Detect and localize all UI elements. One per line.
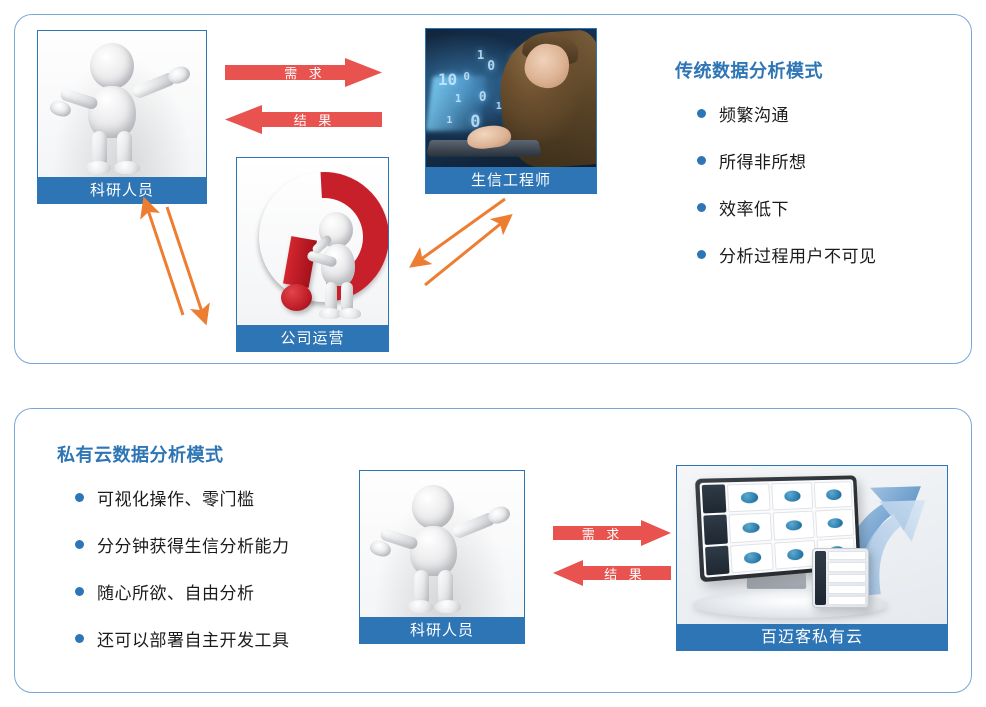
bullet-dot-icon [75,493,84,502]
bullet-item: 效率低下 [697,195,955,220]
bullet-label: 效率低下 [719,195,789,220]
bullet-label: 分分钟获得生信分析能力 [97,532,290,557]
bullet-dot-icon [697,156,706,165]
bullet-dot-icon [75,540,84,549]
bullet-label: 所得非所想 [719,148,807,173]
traditional-heading: 传统数据分析模式 [675,57,955,83]
bullet-item: 频繁沟通 [697,101,955,126]
researcher-image-cloud [359,470,525,618]
card-caption-researcher-cloud: 科研人员 [359,618,525,644]
bioinformatics-engineer-photo-icon: 1 10 0 0 1 1 0 1 0 0 1 0 [426,29,596,167]
arrow-request-label-cloud: 需 求 [553,520,671,546]
arrow-request-label: 需 求 [225,58,382,87]
question-mark-figure-icon [237,158,388,325]
bullet-item: 所得非所想 [697,148,955,173]
bullet-item: 分析过程用户不可见 [697,242,955,267]
cloud-heading: 私有云数据分析模式 [57,441,367,467]
traditional-text-block: 传统数据分析模式 频繁沟通 所得非所想 效率低下 分析过程用户不可见 [675,57,955,289]
bullet-dot-icon [75,634,84,643]
arrow-result-traditional: 结 果 [225,105,382,134]
cloud-text-block: 私有云数据分析模式 可视化操作、零门槛 分分钟获得生信分析能力 随心所欲、自由分… [57,441,367,673]
private-cloud-mode-panel: 私有云数据分析模式 可视化操作、零门槛 分分钟获得生信分析能力 随心所欲、自由分… [14,408,972,693]
bullet-dot-icon [697,109,706,118]
bullet-label: 分析过程用户不可见 [719,242,877,267]
arrow-request-traditional: 需 求 [225,58,382,87]
bullet-item: 分分钟获得生信分析能力 [75,532,367,557]
arrow-result-label: 结 果 [225,105,382,134]
arrow-request-cloud: 需 求 [553,520,671,546]
card-researcher-traditional[interactable]: 科研人员 [37,30,207,204]
card-engineer-traditional[interactable]: 1 10 0 0 1 1 0 1 0 0 1 0 生信工程师 [425,28,597,194]
mannequin-figure-icon [38,31,206,177]
bullet-item: 还可以部署自主开发工具 [75,626,367,651]
arrow-result-cloud: 结 果 [553,560,671,586]
engineer-image: 1 10 0 0 1 1 0 1 0 0 1 0 [425,28,597,168]
arrow-operations-engineer [397,193,517,303]
bullet-label: 随心所欲、自由分析 [97,579,255,604]
bullet-item: 随心所欲、自由分析 [75,579,367,604]
bullet-label: 频繁沟通 [719,101,789,126]
operations-image [236,157,389,326]
researcher-image [37,30,207,178]
arrow-result-label-cloud: 结 果 [553,560,671,586]
cloud-dashboard-illustration-icon [677,466,947,624]
card-caption-operations: 公司运营 [236,326,389,352]
card-researcher-cloud[interactable]: 科研人员 [359,470,525,644]
card-private-cloud-platform[interactable]: 百迈客私有云 [676,465,948,651]
private-cloud-image [676,465,948,625]
bullet-dot-icon [697,203,706,212]
traditional-mode-panel: 科研人员 需 求 结 果 1 10 0 0 1 1 0 1 0 [14,14,972,364]
bullet-dot-icon [75,587,84,596]
bullet-dot-icon [697,250,706,259]
bullet-label: 还可以部署自主开发工具 [97,626,290,651]
card-operations-traditional[interactable]: 公司运营 [236,157,389,352]
card-caption-engineer: 生信工程师 [425,168,597,194]
bullet-label: 可视化操作、零门槛 [97,485,255,510]
mannequin-figure-icon [360,471,524,617]
arrow-researcher-operations [133,193,243,328]
card-caption-private-cloud: 百迈客私有云 [676,625,948,651]
bullet-item: 可视化操作、零门槛 [75,485,367,510]
